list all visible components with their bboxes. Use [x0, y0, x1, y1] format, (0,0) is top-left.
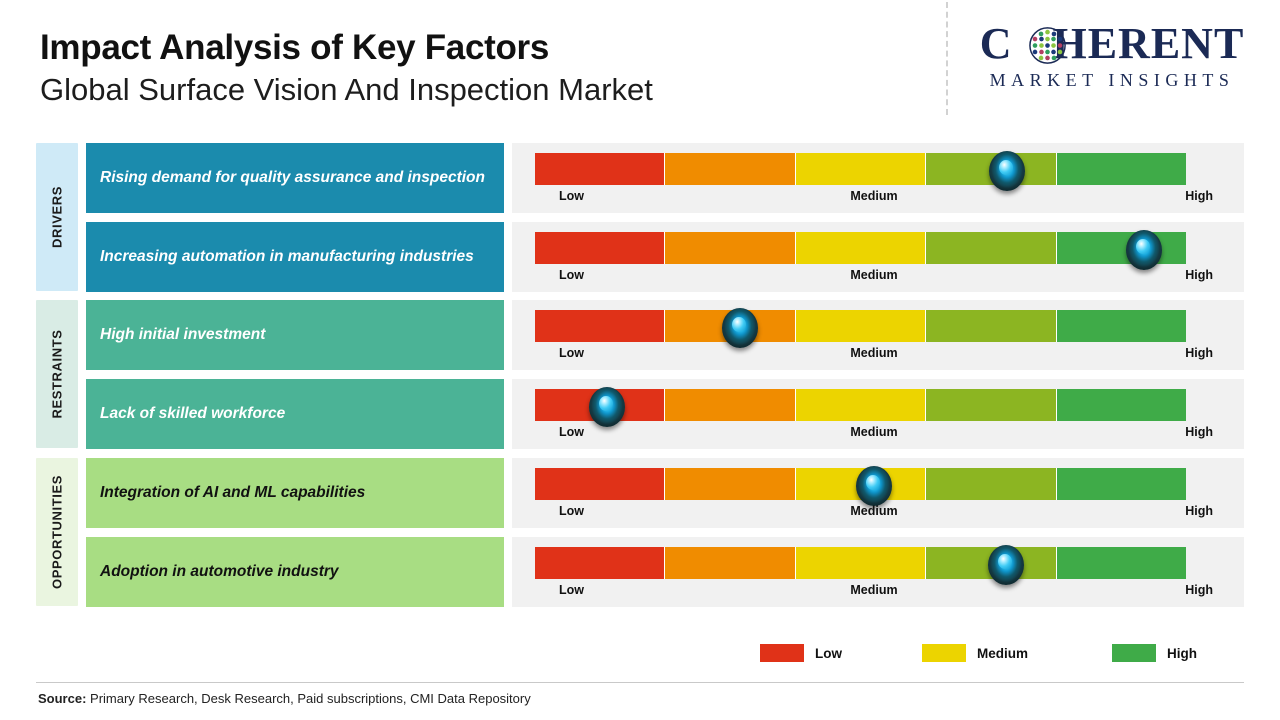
- factor-label: Increasing automation in manufacturing i…: [100, 247, 474, 267]
- gauge-row: LowMediumHigh: [512, 300, 1244, 370]
- category-band-label: DRIVERS: [50, 186, 65, 248]
- factor-box[interactable]: Lack of skilled workforce: [86, 379, 504, 449]
- gauge-row: LowMediumHigh: [512, 379, 1244, 449]
- scale-label-medium: Medium: [850, 346, 897, 360]
- scale-segment-4: [926, 232, 1056, 264]
- scale-label-low: Low: [559, 583, 584, 597]
- scale-segment-5: [1057, 468, 1186, 500]
- category-band-label: OPPORTUNITIES: [50, 475, 65, 589]
- legend-item: Medium: [922, 644, 1028, 662]
- source-label: Source:: [38, 691, 86, 706]
- logo-wordmark: CHERENT: [962, 18, 1262, 69]
- scale-label-medium: Medium: [850, 425, 897, 439]
- scale-label-low: Low: [559, 504, 584, 518]
- impact-scale-bar: [535, 310, 1186, 342]
- scale-segment-3: [796, 232, 926, 264]
- scale-segment-4: [926, 389, 1056, 421]
- globe-icon: [1029, 27, 1066, 64]
- impact-marker[interactable]: [589, 387, 625, 427]
- chart-legend: LowMediumHigh: [760, 644, 1220, 670]
- scale-labels: LowMediumHigh: [535, 425, 1213, 445]
- scale-label-medium: Medium: [850, 189, 897, 203]
- scale-label-high: High: [1185, 268, 1213, 282]
- scale-labels: LowMediumHigh: [535, 189, 1213, 209]
- impact-scale-bar: [535, 232, 1186, 264]
- scale-segment-2: [665, 547, 795, 579]
- scale-segment-3: [796, 153, 926, 185]
- factor-label: Rising demand for quality assurance and …: [100, 168, 485, 188]
- impact-scale-bar: [535, 389, 1186, 421]
- legend-swatch: [922, 644, 966, 662]
- logo-brand-suffix: HERENT: [1052, 19, 1244, 68]
- scale-segment-5: [1057, 310, 1186, 342]
- source-note: Source: Primary Research, Desk Research,…: [38, 691, 531, 706]
- scale-segment-4: [926, 310, 1056, 342]
- gauge-row: LowMediumHigh: [512, 458, 1244, 528]
- legend-swatch: [1112, 644, 1156, 662]
- scale-segment-5: [1057, 547, 1186, 579]
- scale-label-high: High: [1185, 346, 1213, 360]
- scale-segment-5: [1057, 153, 1186, 185]
- scale-labels: LowMediumHigh: [535, 583, 1213, 603]
- scale-label-medium: Medium: [850, 583, 897, 597]
- scale-segment-3: [796, 389, 926, 421]
- legend-label: High: [1167, 646, 1197, 661]
- scale-segment-2: [665, 232, 795, 264]
- scale-segment-1: [535, 232, 665, 264]
- impact-marker[interactable]: [1126, 230, 1162, 270]
- factor-box[interactable]: Rising demand for quality assurance and …: [86, 143, 504, 213]
- footer-divider: [36, 682, 1244, 683]
- scale-segment-1: [535, 153, 665, 185]
- scale-label-low: Low: [559, 425, 584, 439]
- gauge-row: LowMediumHigh: [512, 143, 1244, 213]
- impact-marker[interactable]: [722, 308, 758, 348]
- scale-segment-4: [926, 468, 1056, 500]
- scale-label-low: Low: [559, 346, 584, 360]
- scale-segment-3: [796, 310, 926, 342]
- impact-analysis-chart: DRIVERSRising demand for quality assuran…: [0, 140, 1280, 620]
- scale-segment-2: [665, 153, 795, 185]
- impact-scale-bar: [535, 547, 1186, 579]
- scale-labels: LowMediumHigh: [535, 346, 1213, 366]
- scale-label-medium: Medium: [850, 268, 897, 282]
- scale-segment-2: [665, 468, 795, 500]
- impact-marker[interactable]: [988, 545, 1024, 585]
- page-header: Impact Analysis of Key Factors Global Su…: [0, 0, 1280, 128]
- gauge-row: LowMediumHigh: [512, 537, 1244, 607]
- source-text: Primary Research, Desk Research, Paid su…: [86, 691, 530, 706]
- page-subtitle: Global Surface Vision And Inspection Mar…: [40, 71, 653, 108]
- impact-marker[interactable]: [856, 466, 892, 506]
- legend-swatch: [760, 644, 804, 662]
- factor-box[interactable]: Integration of AI and ML capabilities: [86, 458, 504, 528]
- factor-box[interactable]: High initial investment: [86, 300, 504, 370]
- scale-label-high: High: [1185, 189, 1213, 203]
- header-dashed-divider: [946, 2, 948, 115]
- impact-marker[interactable]: [989, 151, 1025, 191]
- scale-label-high: High: [1185, 504, 1213, 518]
- category-band-restraints: RESTRAINTS: [36, 300, 78, 448]
- factor-label: Adoption in automotive industry: [100, 562, 339, 582]
- scale-label-low: Low: [559, 268, 584, 282]
- scale-segment-1: [535, 468, 665, 500]
- scale-segment-1: [535, 547, 665, 579]
- category-band-opportunities: OPPORTUNITIES: [36, 458, 78, 606]
- scale-labels: LowMediumHigh: [535, 504, 1213, 524]
- gauge-row: LowMediumHigh: [512, 222, 1244, 292]
- scale-label-high: High: [1185, 425, 1213, 439]
- scale-segment-5: [1057, 232, 1186, 264]
- coherent-market-insights-logo: CHERENT: [962, 18, 1262, 98]
- legend-item: Low: [760, 644, 842, 662]
- scale-segment-5: [1057, 389, 1186, 421]
- scale-label-low: Low: [559, 189, 584, 203]
- scale-labels: LowMediumHigh: [535, 268, 1213, 288]
- scale-segment-1: [535, 310, 665, 342]
- factor-box[interactable]: Adoption in automotive industry: [86, 537, 504, 607]
- logo-brand-prefix: C: [980, 19, 1013, 68]
- legend-label: Medium: [977, 646, 1028, 661]
- scale-segment-2: [665, 389, 795, 421]
- factor-box[interactable]: Increasing automation in manufacturing i…: [86, 222, 504, 292]
- factor-label: Integration of AI and ML capabilities: [100, 483, 365, 503]
- legend-item: High: [1112, 644, 1197, 662]
- factor-label: High initial investment: [100, 325, 265, 345]
- scale-label-medium: Medium: [850, 504, 897, 518]
- impact-scale-bar: [535, 153, 1186, 185]
- legend-label: Low: [815, 646, 842, 661]
- title-block: Impact Analysis of Key Factors Global Su…: [40, 28, 653, 108]
- category-band-drivers: DRIVERS: [36, 143, 78, 291]
- scale-label-high: High: [1185, 583, 1213, 597]
- logo-tagline: MARKET INSIGHTS: [962, 70, 1262, 91]
- category-band-label: RESTRAINTS: [50, 329, 65, 418]
- scale-segment-3: [796, 547, 926, 579]
- page-title: Impact Analysis of Key Factors: [40, 28, 653, 67]
- factor-label: Lack of skilled workforce: [100, 404, 285, 424]
